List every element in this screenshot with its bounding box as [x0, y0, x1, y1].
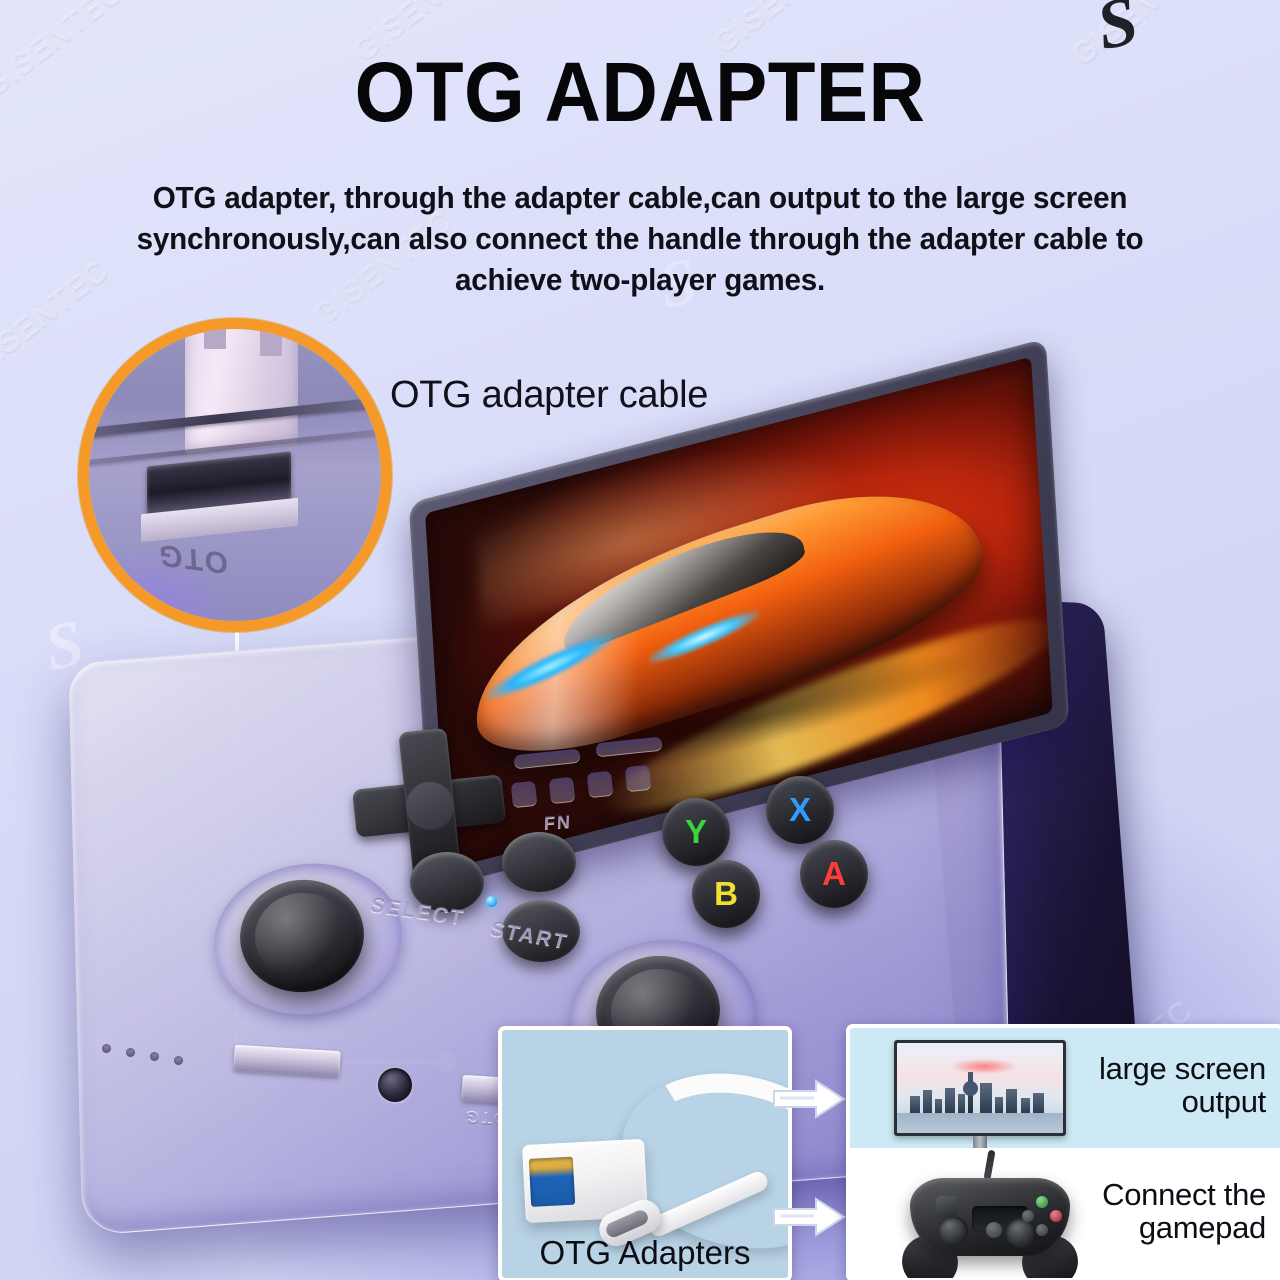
large-screen-output-label: large screen output — [1099, 1052, 1266, 1119]
gamepad-home-button — [986, 1222, 1002, 1238]
headphone-jack — [378, 1068, 412, 1102]
gamepad-left-stick — [938, 1216, 968, 1246]
connect-gamepad-label: Connect the gamepad — [1102, 1178, 1266, 1245]
monitor-water — [897, 1113, 1063, 1133]
connect-gamepad-line2: gamepad — [1102, 1211, 1266, 1244]
callout-image: OTG — [78, 318, 392, 632]
gamepad-cord — [983, 1150, 995, 1181]
outputs-panel[interactable]: large screen output — [846, 1024, 1280, 1280]
speaker-vent — [511, 781, 537, 807]
otg-panel-label: OTG Adapters — [502, 1234, 788, 1272]
arrow-right-icon — [772, 1078, 846, 1120]
monitor-skyline — [907, 1072, 1053, 1113]
speaker-vent — [549, 777, 575, 803]
button-a-label: A — [822, 855, 846, 893]
arrow-right-icon — [772, 1196, 846, 1238]
speaker-vent — [625, 765, 651, 791]
car-headlight-glow — [482, 626, 616, 708]
monitor-screen — [897, 1043, 1063, 1133]
gamepad-face-button — [1036, 1224, 1048, 1236]
page-title: OTG ADAPTER — [45, 44, 1235, 141]
bottom-screw-dot — [102, 1044, 111, 1053]
gamepad-body — [910, 1178, 1070, 1256]
callout-plug-notch — [260, 327, 282, 355]
fn-label: FN — [544, 811, 573, 834]
gamepad-icon — [900, 1164, 1080, 1272]
product-infographic: GISENTEC GISENTEC GISENTEC GISENTEC GISE… — [0, 0, 1280, 1280]
button-y-label: Y — [685, 813, 707, 851]
gamepad-face-button — [1022, 1210, 1034, 1222]
bottom-screw-dot — [174, 1056, 183, 1065]
large-screen-output-line1: large screen — [1099, 1052, 1266, 1085]
button-y[interactable]: Y — [662, 798, 730, 866]
gamepad-dpad — [936, 1196, 958, 1218]
callout-label: OTG adapter cable — [390, 374, 708, 417]
gamepad-face-button — [1036, 1196, 1048, 1208]
magnified-port-callout: OTG — [78, 318, 392, 632]
large-screen-output-row[interactable]: large screen output — [850, 1028, 1280, 1148]
monitor-icon — [894, 1040, 1066, 1136]
bottom-screw-dot — [126, 1048, 135, 1057]
gamepad-right-stick — [1006, 1218, 1036, 1248]
otg-adapter-panel[interactable]: OTG Adapters — [498, 1026, 792, 1280]
button-x-label: X — [789, 791, 811, 829]
large-screen-output-line2: output — [1099, 1085, 1266, 1118]
callout-plug-notch — [204, 321, 226, 349]
speaker-vent — [587, 771, 613, 797]
monitor-frame — [894, 1040, 1066, 1136]
start-button[interactable] — [502, 832, 576, 892]
button-b[interactable]: B — [692, 860, 760, 928]
connect-gamepad-line1: Connect the — [1102, 1178, 1266, 1211]
button-x[interactable]: X — [766, 776, 834, 844]
monitor-tower — [968, 1072, 973, 1113]
gamepad-face-button — [1050, 1210, 1062, 1222]
usb-a-contacts — [529, 1157, 575, 1207]
button-b-label: B — [714, 875, 738, 913]
bottom-screw-dot — [150, 1052, 159, 1061]
page-description: OTG adapter, through the adapter cable,c… — [95, 178, 1185, 301]
button-a[interactable]: A — [800, 840, 868, 908]
power-led — [486, 896, 497, 907]
connect-gamepad-row[interactable]: Connect the gamepad — [850, 1148, 1280, 1278]
